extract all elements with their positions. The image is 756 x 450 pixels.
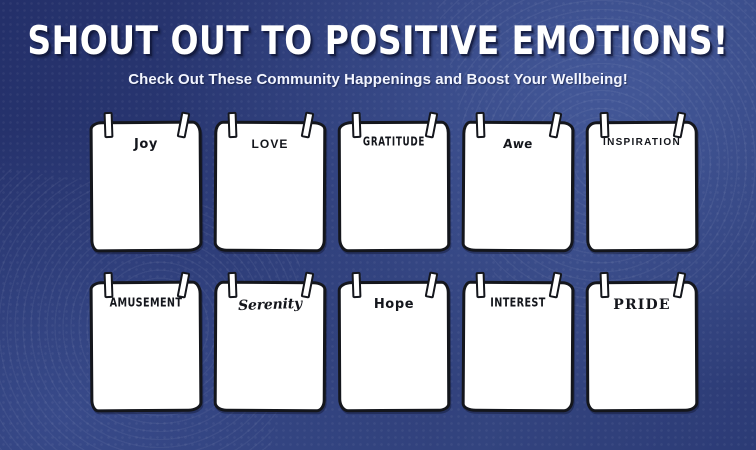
poster-canvas: Shout Out to Positive Emotions! Check Ou…: [0, 0, 756, 450]
clothespin-clip-left-icon: [600, 112, 610, 138]
emotion-card-gratitude[interactable]: GRATITUDE: [338, 112, 450, 252]
emotion-card-label: INSPIRATION: [586, 138, 698, 148]
clothespin-clip-left-icon: [476, 272, 486, 298]
card-row-2: AMUSEMENT Serenity Hope INTEREST: [90, 272, 674, 412]
card-row-1: Joy LOVE GRATITUDE Awe: [90, 112, 674, 252]
emotion-card-amusement[interactable]: AMUSEMENT: [90, 272, 202, 412]
clothespin-clip-left-icon: [228, 112, 238, 138]
clothespin-clip-left-icon: [352, 112, 362, 138]
emotion-card-label: Joy: [90, 138, 202, 151]
emotion-card-serenity[interactable]: Serenity: [214, 272, 326, 412]
emotion-card-label: GRATITUDE: [345, 137, 444, 149]
page-subtitle: Check Out These Community Happenings and…: [0, 71, 756, 88]
emotion-card-label: AMUSEMENT: [94, 297, 197, 309]
emotion-card-interest[interactable]: INTEREST: [462, 272, 574, 412]
clothespin-clip-left-icon: [104, 112, 114, 138]
clothespin-clip-left-icon: [352, 272, 362, 298]
emotion-card-hope[interactable]: Hope: [338, 272, 450, 412]
clothespin-clip-left-icon: [228, 272, 238, 298]
emotion-card-awe[interactable]: Awe: [462, 112, 574, 252]
emotion-card-label: Awe: [461, 138, 574, 151]
emotion-card-label: INTEREST: [466, 297, 569, 309]
emotion-card-inspiration[interactable]: INSPIRATION: [586, 112, 698, 252]
clothespin-clip-left-icon: [104, 272, 114, 298]
emotion-card-label: PRIDE: [586, 298, 698, 312]
emotion-card-love[interactable]: LOVE: [214, 112, 326, 252]
page-title: Shout Out to Positive Emotions!: [11, 22, 744, 61]
clothespin-clip-left-icon: [476, 112, 486, 138]
emotion-card-label: LOVE: [214, 138, 326, 150]
clothespin-clip-left-icon: [600, 272, 610, 298]
emotion-card-pride[interactable]: PRIDE: [586, 272, 698, 412]
poster-header: Shout Out to Positive Emotions! Check Ou…: [0, 0, 756, 88]
emotion-card-grid: Joy LOVE GRATITUDE Awe: [90, 112, 674, 412]
emotion-card-joy[interactable]: Joy: [90, 112, 202, 252]
emotion-card-label: Hope: [338, 298, 450, 311]
